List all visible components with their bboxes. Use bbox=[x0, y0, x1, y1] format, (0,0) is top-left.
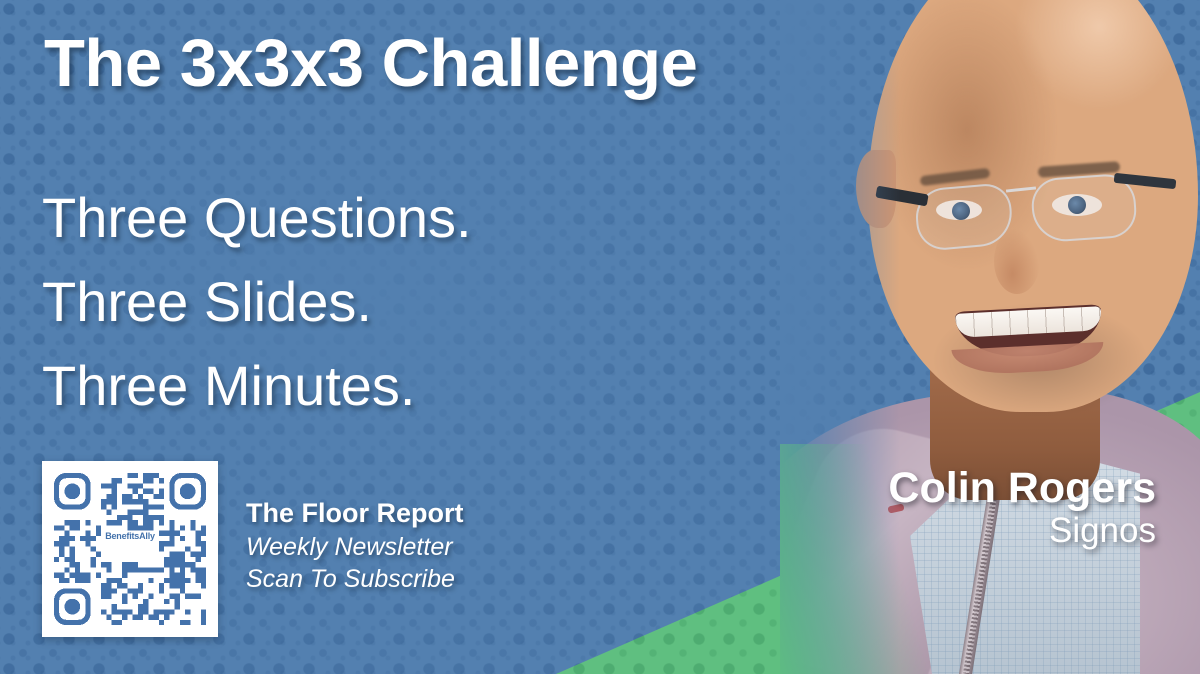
newsletter-block: The Floor Report Weekly Newsletter Scan … bbox=[246, 497, 464, 596]
speaker-name: Colin Rogers bbox=[888, 466, 1156, 511]
newsletter-cta: Scan To Subscribe bbox=[246, 563, 464, 596]
presentation-slide: The 3x3x3 Challenge Three Questions. Thr… bbox=[0, 0, 1200, 674]
slide-title: The 3x3x3 Challenge bbox=[44, 30, 697, 97]
slide-subtitle: Three Questions. Three Slides. Three Min… bbox=[42, 176, 472, 428]
newsletter-cadence: Weekly Newsletter bbox=[246, 531, 464, 564]
portrait-nose bbox=[994, 228, 1040, 294]
qr-brand-label: BenefitsAlly bbox=[42, 531, 218, 541]
speaker-organization: Signos bbox=[888, 511, 1156, 551]
subtitle-line-1: Three Questions. bbox=[42, 176, 472, 260]
qr-code-icon[interactable] bbox=[54, 473, 206, 625]
newsletter-title: The Floor Report bbox=[246, 497, 464, 531]
portrait-inner bbox=[780, 0, 1200, 674]
qr-code-panel[interactable]: BenefitsAlly bbox=[42, 461, 218, 637]
portrait-teeth-separations bbox=[955, 306, 1102, 338]
subtitle-line-3: Three Minutes. bbox=[42, 344, 472, 428]
speaker-portrait-photo bbox=[780, 0, 1200, 674]
speaker-label: Colin Rogers Signos bbox=[888, 466, 1156, 551]
subtitle-line-2: Three Slides. bbox=[42, 260, 472, 344]
